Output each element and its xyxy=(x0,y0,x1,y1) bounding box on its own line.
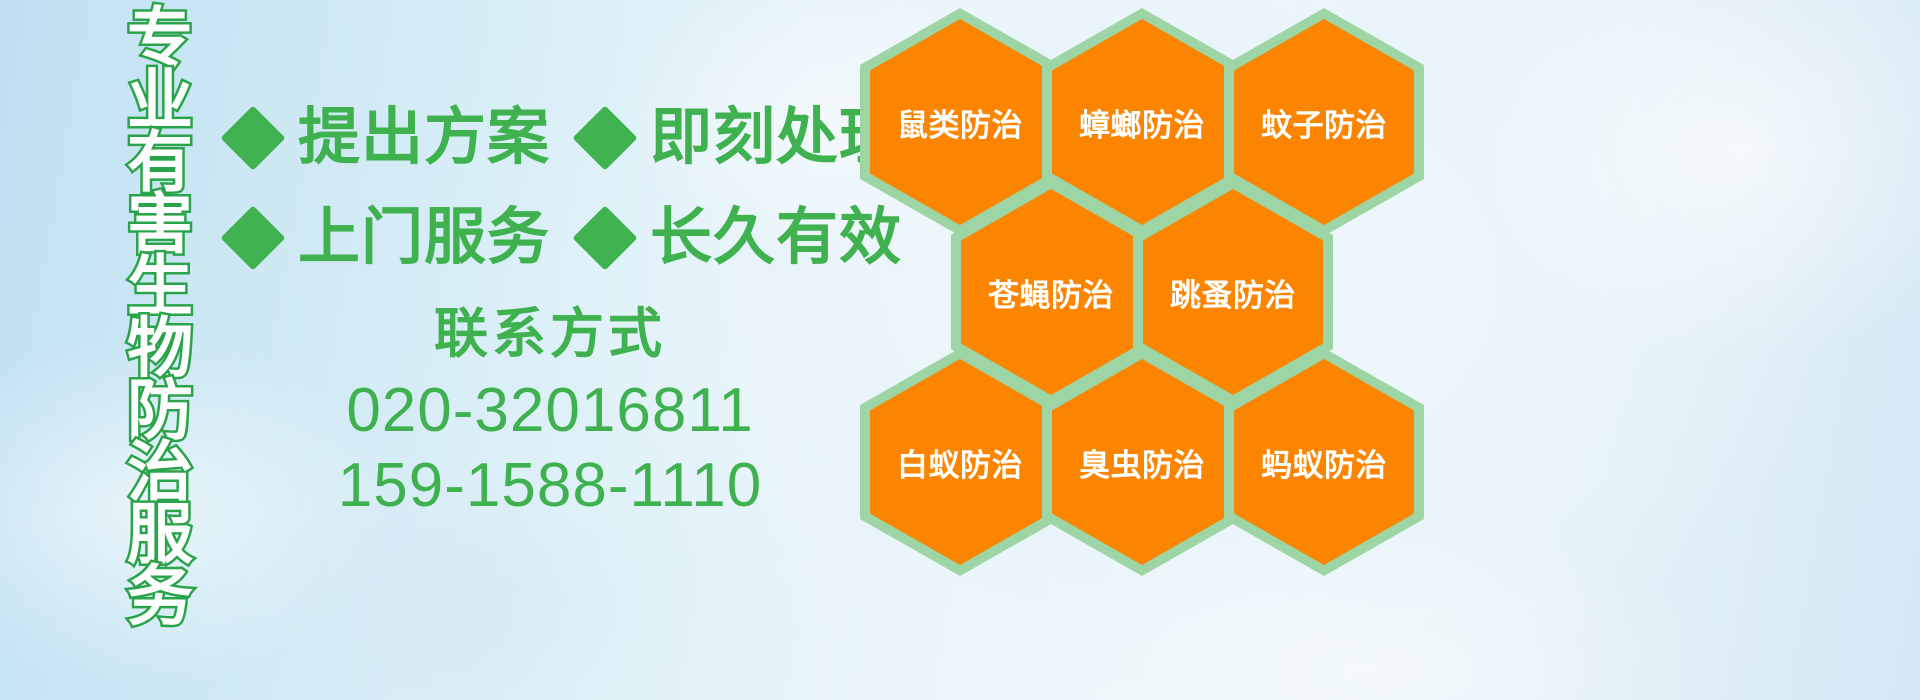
pest-control-service-banner: 专 业 有 害 生 物 防 治 服 务 提出方案 即刻处理 上门服务 xyxy=(0,0,1920,700)
feature-label: 上门服务 xyxy=(298,207,550,269)
service-hex-label: 蟑螂防治 xyxy=(1079,100,1205,145)
vertical-headline-char: 防 xyxy=(127,380,193,442)
diamond-bullet-icon xyxy=(220,105,285,170)
service-hex-label: 跳蚤防治 xyxy=(1170,270,1296,315)
feature-row: 提出方案 即刻处理 xyxy=(230,88,870,188)
service-hex-label: 蚊子防治 xyxy=(1261,100,1387,145)
vertical-headline: 专 业 有 害 生 物 防 治 服 务 xyxy=(112,8,208,628)
service-hex-label: 蚂蚁防治 xyxy=(1261,440,1387,485)
vertical-headline-char: 害 xyxy=(127,194,193,256)
vertical-headline-char: 服 xyxy=(127,504,193,566)
background-glow xyxy=(1480,0,1920,360)
vertical-headline-char: 业 xyxy=(127,70,193,132)
feature-row: 上门服务 长久有效 xyxy=(230,188,870,288)
feature-label: 提出方案 xyxy=(298,107,550,169)
contact-block: 联系方式 020-32016811 159-1588-1110 xyxy=(230,306,870,524)
diamond-bullet-icon xyxy=(572,205,637,270)
vertical-headline-char: 有 xyxy=(127,132,193,194)
phone-number-landline[interactable]: 020-32016811 xyxy=(230,373,870,449)
vertical-headline-char: 治 xyxy=(127,442,193,504)
service-honeycomb: 鼠类防治 蟑螂防治 蚊子防治 苍蝇防治 跳蚤防治 白蚁防治 臭虫防治 蚂蚁 xyxy=(852,0,1472,580)
service-hex-label: 白蚁防治 xyxy=(897,440,1023,485)
phone-number-mobile[interactable]: 159-1588-1110 xyxy=(230,448,870,524)
service-hex-label: 臭虫防治 xyxy=(1079,440,1205,485)
vertical-headline-char: 物 xyxy=(127,318,193,380)
diamond-bullet-icon xyxy=(220,205,285,270)
feature-item: 提出方案 xyxy=(230,107,550,169)
vertical-headline-char: 专 xyxy=(127,8,193,70)
feature-list: 提出方案 即刻处理 上门服务 长久有效 xyxy=(230,88,870,288)
diamond-bullet-icon xyxy=(572,105,637,170)
vertical-headline-char: 生 xyxy=(127,256,193,318)
contact-title: 联系方式 xyxy=(230,306,870,363)
service-hex-label: 苍蝇防治 xyxy=(988,270,1114,315)
feature-item: 上门服务 xyxy=(230,207,550,269)
service-hex-label: 鼠类防治 xyxy=(897,100,1023,145)
vertical-headline-char: 务 xyxy=(127,566,193,628)
